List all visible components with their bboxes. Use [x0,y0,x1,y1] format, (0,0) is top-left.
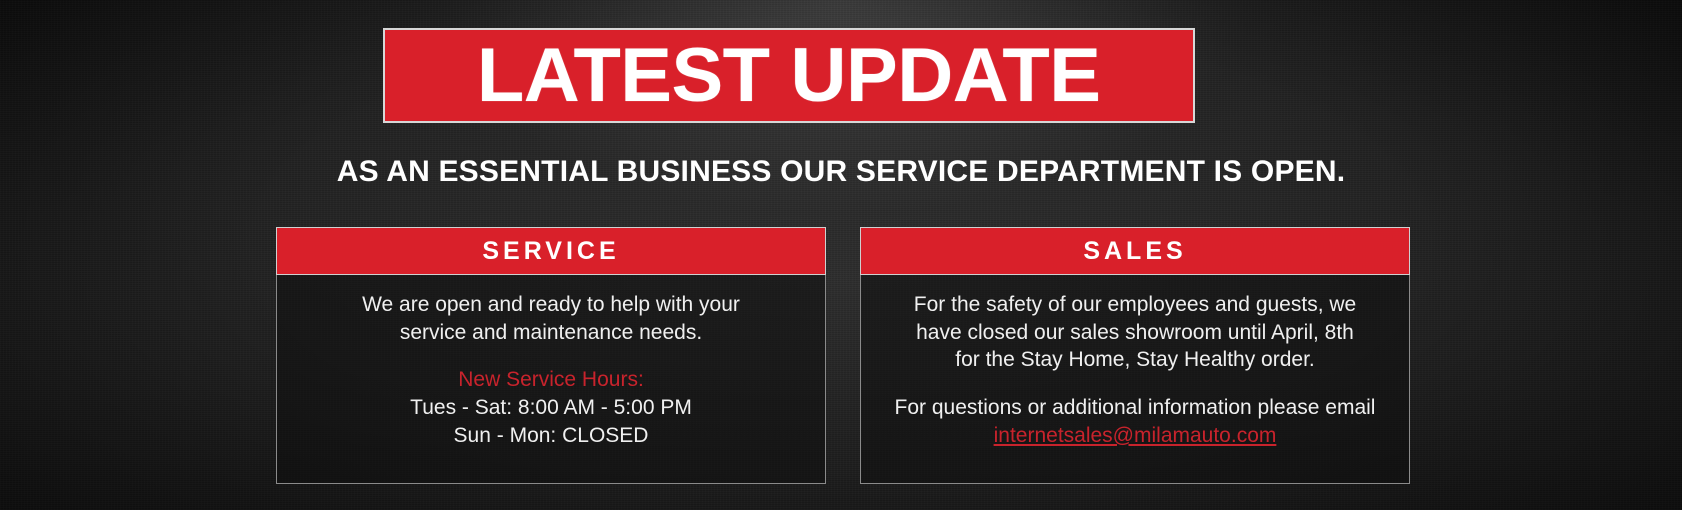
service-hours-weekend: Sun - Mon: CLOSED [291,422,811,450]
subtitle-text: AS AN ESSENTIAL BUSINESS OUR SERVICE DEP… [0,155,1682,189]
sales-panel: SALES For the safety of our employees an… [860,228,1410,484]
service-panel: SERVICE We are open and ready to help wi… [276,228,826,484]
service-panel-title: SERVICE [482,239,619,264]
service-panel-header: SERVICE [276,227,826,275]
sales-email-line: internetsales@milamauto.com [875,422,1395,450]
latest-update-banner: LATEST UPDATE [383,28,1195,123]
headline-title: LATEST UPDATE [477,38,1101,114]
sales-email-link[interactable]: internetsales@milamauto.com [994,424,1277,447]
sales-body-spacer [875,374,1395,394]
service-body-spacer [291,346,811,366]
sales-notice-line-2: have closed our sales showroom until Apr… [875,319,1395,347]
service-intro-line-2: service and maintenance needs. [291,319,811,347]
service-panel-body: We are open and ready to help with your … [277,275,825,483]
sales-contact-line: For questions or additional information … [875,394,1395,422]
service-hours-heading: New Service Hours: [291,366,811,394]
sales-panel-title: SALES [1083,239,1186,264]
service-intro-line-1: We are open and ready to help with your [291,291,811,319]
sales-notice-line-3: for the Stay Home, Stay Healthy order. [875,346,1395,374]
sales-notice-line-1: For the safety of our employees and gues… [875,291,1395,319]
service-hours-weekday: Tues - Sat: 8:00 AM - 5:00 PM [291,394,811,422]
announcement-banner: LATEST UPDATE AS AN ESSENTIAL BUSINESS O… [0,0,1682,510]
sales-panel-header: SALES [860,227,1410,275]
sales-panel-body: For the safety of our employees and gues… [861,275,1409,483]
